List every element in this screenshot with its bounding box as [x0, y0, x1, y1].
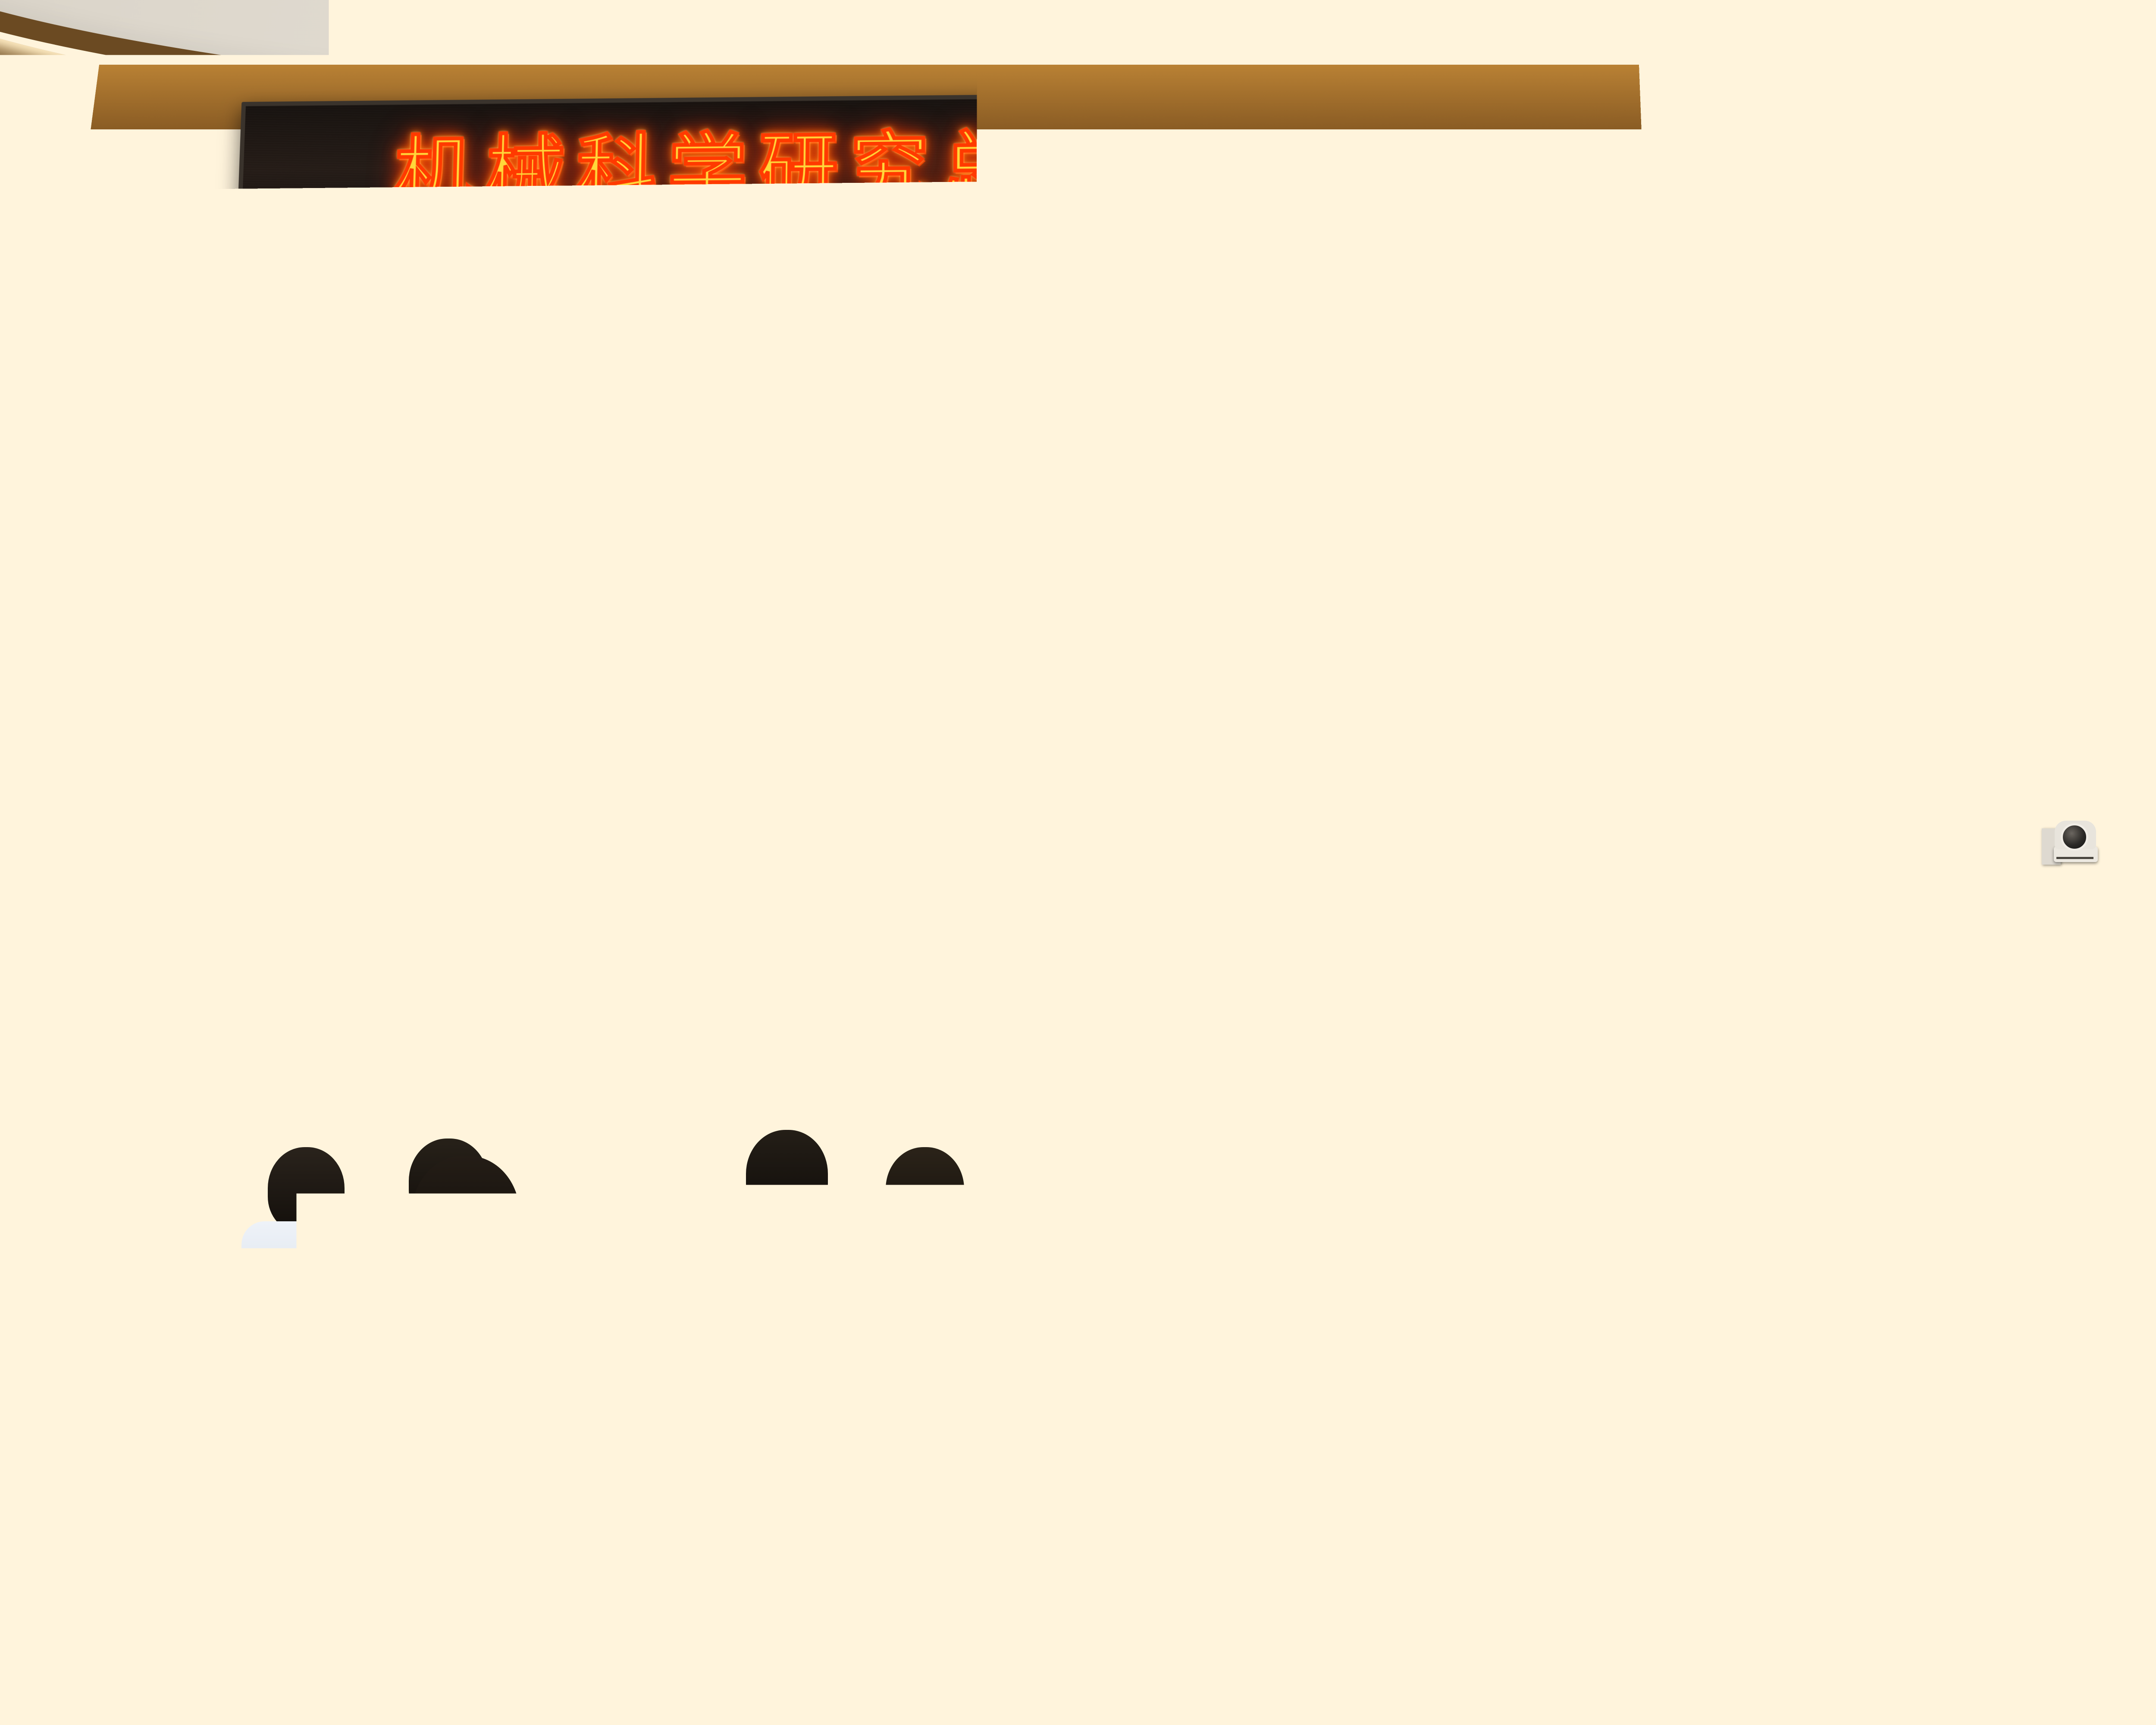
audience-person: [789, 1164, 1005, 1527]
person-head: [17, 1138, 116, 1251]
person-head: [631, 1121, 697, 1194]
left-wall-wood-panel: [0, 39, 276, 1212]
audience-person: [0, 1328, 190, 1725]
wall-seam: [0, 306, 276, 307]
person-head: [1203, 1207, 1332, 1358]
podium-top: [389, 945, 629, 973]
foreground-table: [0, 1682, 604, 1725]
person-body: [1746, 1225, 1889, 1354]
person-head: [1462, 1268, 1600, 1427]
person-head: [1777, 1147, 1858, 1236]
person-head: [1053, 1126, 1116, 1196]
screen-title-line-1: 机械科学研究总院: [590, 636, 2049, 726]
table-row: [2113, 1207, 2156, 1234]
audience-person: [1035, 1126, 1134, 1255]
person-head: [1484, 1138, 1565, 1228]
person-body: [362, 1262, 569, 1503]
person-head: [610, 1251, 735, 1397]
microphone-head-icon: [454, 857, 465, 881]
person-head: [1922, 1130, 2006, 1223]
water-bottle: [259, 1414, 301, 1548]
audience-person: [1746, 1147, 1889, 1350]
screen-title-line-2: 职工代表大会一届四次会议: [590, 796, 2049, 885]
chair: [1716, 1414, 1889, 1509]
ptz-camera-icon: [2042, 813, 2098, 865]
person-head: [1297, 1091, 1364, 1167]
person-head: [1628, 1138, 1710, 1229]
chair: [414, 1548, 673, 1686]
nameplate-name: 生: [314, 1490, 348, 1547]
person-head: [412, 1156, 520, 1276]
microphone-indicator-light: [457, 872, 462, 876]
camera-lens-icon: [2061, 823, 2088, 851]
person-body: [241, 1221, 371, 1342]
audience-person: [612, 1121, 716, 1251]
audience-person: [241, 1147, 371, 1337]
wall-seam: [233, 108, 234, 1203]
speaker-glasses-icon: [489, 826, 548, 839]
foreground-table: [647, 1669, 2027, 1725]
projection-screen: 机械科学研究总院 职工代表大会一届四次会议 机械科学研究总院 China Aca…: [583, 423, 2056, 1199]
person-body: [1035, 1187, 1134, 1269]
conference-hall-scene: 机械科学研究总院职工代表大会一届四次会议 机械科学研究总院 职工代表大会一届四次…: [0, 0, 2156, 1725]
chair: [759, 1475, 940, 1574]
person-head: [1166, 1108, 1231, 1182]
person-head: [6, 1328, 132, 1466]
person-head: [1977, 1242, 2111, 1397]
person-head: [840, 1164, 953, 1290]
wall-seam: [0, 712, 276, 713]
person-head: [268, 1147, 345, 1233]
audience-person: [362, 1156, 569, 1501]
